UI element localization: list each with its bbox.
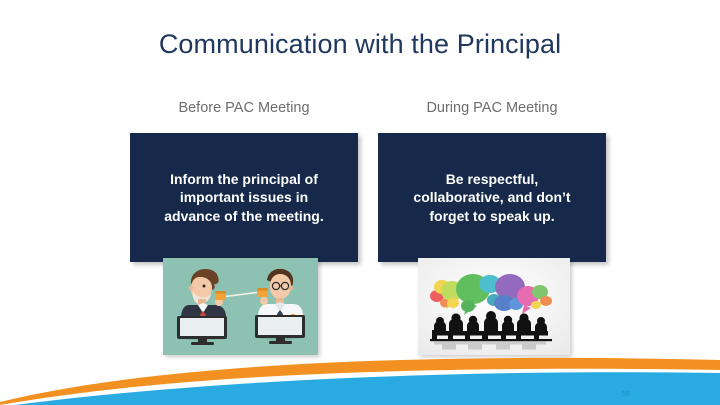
statement-text-before: Inform the principal of important issues…	[156, 170, 331, 225]
orange-swoosh-shape	[0, 358, 720, 405]
column-header-before: Before PAC Meeting	[130, 100, 358, 116]
blue-swoosh-shape	[0, 372, 720, 405]
statement-box-before: Inform the principal of important issues…	[130, 133, 358, 262]
column-header-during: During PAC Meeting	[378, 100, 606, 116]
tin-can-telephone-icon	[163, 258, 318, 355]
tin-can-telephone-illustration	[163, 258, 318, 355]
statement-box-during: Be respectful, collaborative, and don’t …	[378, 133, 606, 262]
slide-canvas: Communication with the Principal Before …	[0, 0, 720, 405]
meeting-speech-bubbles-illustration	[418, 258, 570, 355]
page-number: 56	[614, 391, 638, 398]
speech-bubbles-meeting-icon	[418, 258, 570, 355]
bottom-swoosh-decoration	[0, 345, 720, 405]
statement-text-during: Be respectful, collaborative, and don’t …	[405, 170, 578, 225]
page-title: Communication with the Principal	[0, 29, 720, 60]
